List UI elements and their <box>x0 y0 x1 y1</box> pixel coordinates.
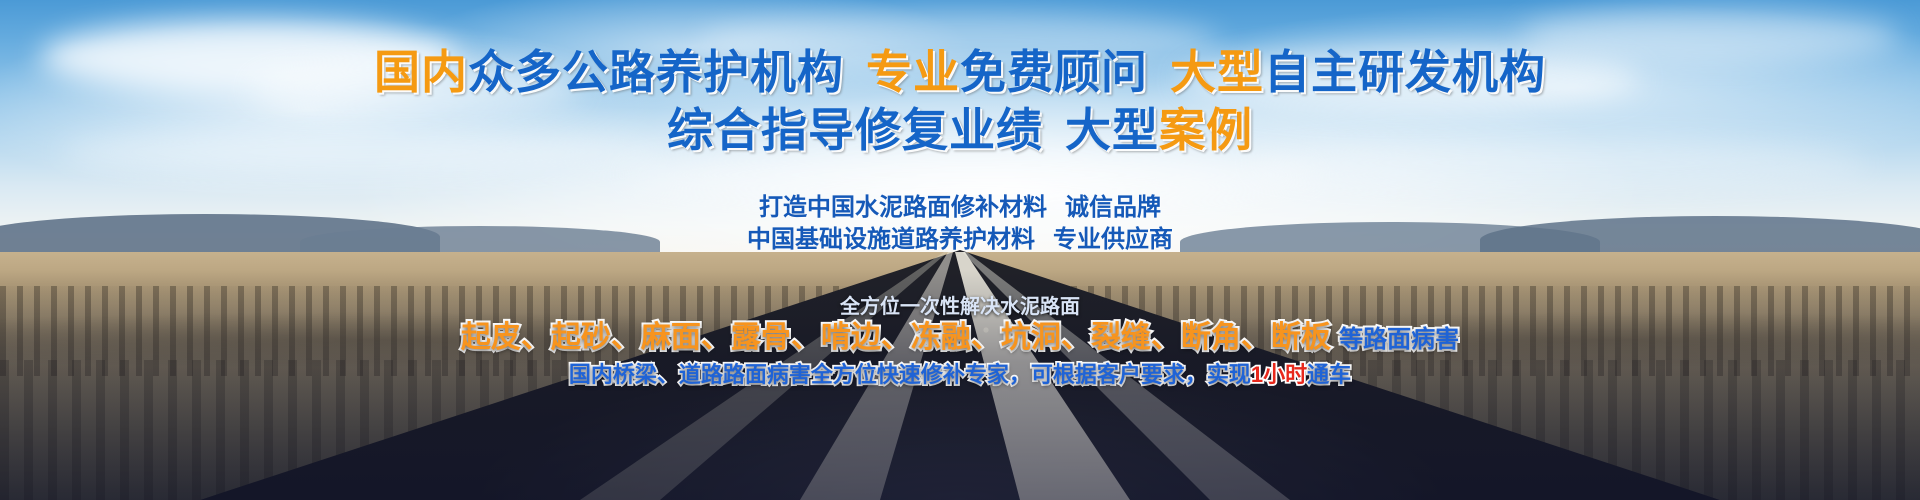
headline-1-seg-6: 自主研发机构 <box>1264 46 1546 98</box>
bottom-tagline: 全方位一次性解决水泥路面 <box>0 294 1920 320</box>
headline-1-seg-3: 专业 <box>866 46 960 98</box>
subheadline-1-b: 诚信品牌 <box>1065 194 1161 221</box>
banner-text-layer: 国内众多公路养护机构专业免费顾问大型自主研发机构 综合指导修复业绩大型案例 打造… <box>0 0 1920 500</box>
headline-1-seg-4: 免费顾问 <box>960 46 1148 98</box>
closing-text-a: 国内桥梁、道路路面病害全方位快速修补专家，可根据客户要求，实现 <box>569 362 1251 387</box>
defect-list-suffix: 等路面病害 <box>1339 326 1459 353</box>
closing-line: 国内桥梁、道路路面病害全方位快速修补专家，可根据客户要求，实现1小时通车 <box>0 360 1920 390</box>
subheadline-line-1: 打造中国水泥路面修补材料诚信品牌 <box>0 192 1920 224</box>
headline-1-seg-1: 国内 <box>374 46 468 98</box>
subheadline-2-b: 专业供应商 <box>1053 226 1173 253</box>
headline-1-seg-2: 众多公路养护机构 <box>468 46 844 98</box>
closing-text-b: 通车 <box>1307 362 1351 387</box>
promo-banner: 国内众多公路养护机构专业免费顾问大型自主研发机构 综合指导修复业绩大型案例 打造… <box>0 0 1920 500</box>
closing-highlight: 1小时 <box>1251 362 1307 387</box>
headline-line-1: 国内众多公路养护机构专业免费顾问大型自主研发机构 <box>0 44 1920 100</box>
subheadline-2-a: 中国基础设施道路养护材料 <box>747 226 1035 253</box>
headline-1-seg-5: 大型 <box>1170 46 1264 98</box>
headline-2-seg-3: 案例 <box>1159 104 1253 156</box>
headline-2-seg-1: 综合指导修复业绩 <box>667 104 1043 156</box>
subheadline-1-a: 打造中国水泥路面修补材料 <box>759 194 1047 221</box>
headline-2-seg-2: 大型 <box>1065 104 1159 156</box>
headline-line-2: 综合指导修复业绩大型案例 <box>0 102 1920 158</box>
defect-list: 起皮、起砂、麻面、露骨、啃边、冻融、坑洞、裂缝、断角、断板 <box>461 321 1331 354</box>
defect-list-line: 起皮、起砂、麻面、露骨、啃边、冻融、坑洞、裂缝、断角、断板 等路面病害 <box>0 318 1920 360</box>
subheadline-line-2: 中国基础设施道路养护材料专业供应商 <box>0 224 1920 256</box>
